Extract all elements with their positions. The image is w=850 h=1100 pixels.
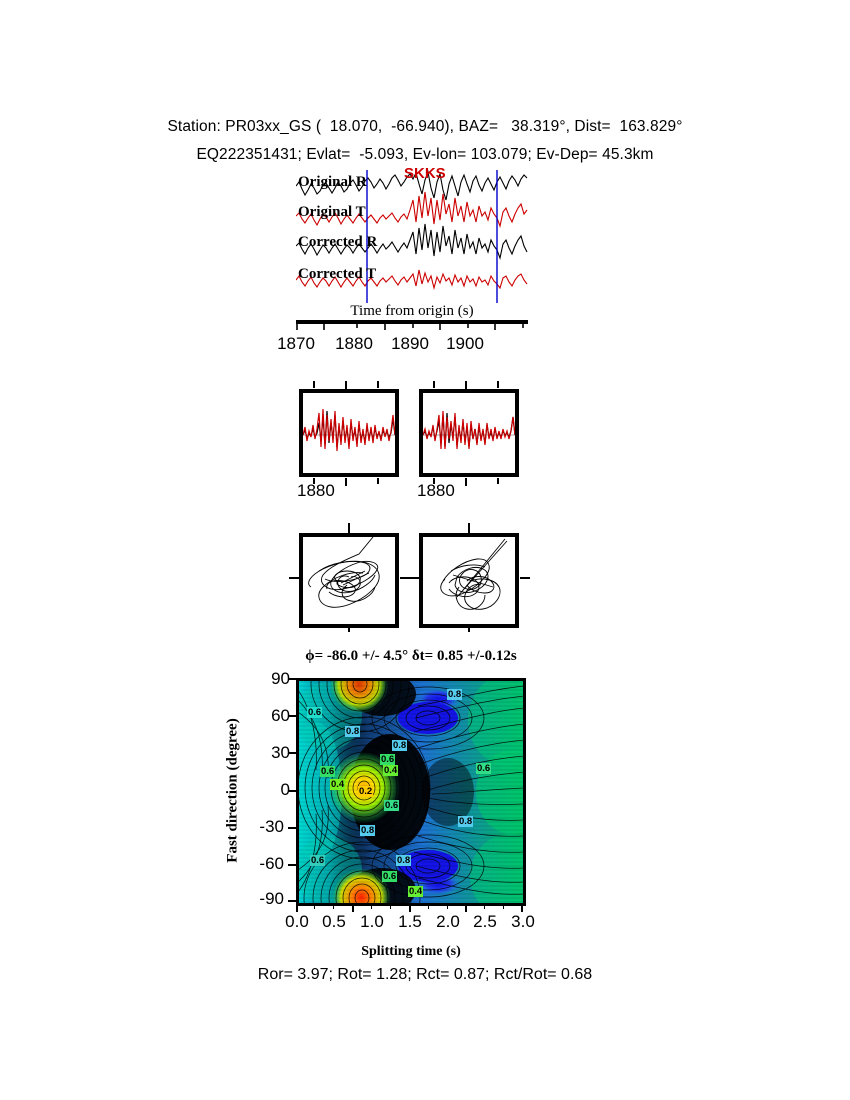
wbox-left-bot-tick-2: [345, 478, 347, 486]
ytick-0: 0: [242, 780, 290, 800]
xtickmark-minor-1: [314, 904, 315, 909]
window-waveforms-left: [303, 393, 395, 473]
ytickmark-60: [288, 715, 296, 717]
phase-label-skks: SKKS: [404, 165, 446, 182]
ytick-neg90: -90: [236, 889, 284, 909]
particle-motion-curve-left: [303, 537, 395, 624]
particle-motion-curve-right: [423, 537, 515, 624]
ytickmark-30: [288, 752, 296, 754]
wbox-left-bot-tick-3: [377, 478, 379, 484]
contour-label-4: 0.6: [380, 754, 395, 765]
xtickmark-minor-8: [503, 904, 504, 909]
ytickmark-neg90: [288, 900, 296, 902]
wbox-left-top-tick-3: [377, 381, 379, 388]
xtick-15: 1.5: [389, 912, 431, 932]
contour-label-13: 0.6: [310, 855, 325, 866]
contour-label-8: 0.2: [358, 786, 373, 797]
window-waveforms-right: [423, 393, 515, 473]
event-info-line: EQ222351431; Evlat= -5.093, Ev-lon= 103.…: [0, 146, 850, 164]
contour-label-15: 0.6: [382, 871, 397, 882]
contour-label-3: 0.8: [392, 740, 407, 751]
contour-label-11: 0.8: [360, 825, 375, 836]
trace-label-original-t: Original T: [298, 204, 366, 221]
ytickmark-0: [288, 790, 296, 792]
quality-metrics-footer: Ror= 3.97; Rot= 1.28; Rct= 0.87; Rct/Rot…: [0, 966, 850, 984]
pbox-right-top-tick: [468, 523, 470, 533]
ytick-60: 60: [242, 706, 290, 726]
ytick-30: 30: [242, 743, 290, 763]
xtickmark-10: [409, 904, 411, 912]
pbox-right-left-tick: [409, 577, 419, 579]
contour-label-14: 0.8: [396, 855, 411, 866]
contour-title: ϕ= -86.0 +/- 4.5° δt= 0.85 +/-0.12s: [226, 648, 596, 665]
wbox-left-bot-tick-1: [313, 478, 315, 484]
contour-x-axis-label: Splitting time (s): [296, 944, 526, 960]
ytick-90: 90: [242, 669, 290, 689]
wbox-right-top-tick-1: [433, 381, 435, 388]
xtick-00: 0.0: [276, 912, 318, 932]
window-right-tick-label: 1880: [417, 481, 507, 501]
contour-label-16: 0.4: [408, 886, 423, 897]
contour-label-9: 0.6: [476, 763, 491, 774]
contour-label-10: 0.6: [384, 800, 399, 811]
pbox-left-left-tick: [289, 577, 299, 579]
xtick-30: 3.0: [502, 912, 544, 932]
pbox-right-right-tick: [520, 577, 530, 579]
time-axis: [296, 318, 528, 332]
xtickmark-minor-7: [484, 904, 485, 909]
seismogram-panel: Original R Original T Corrected R Correc…: [296, 170, 528, 305]
wbox-right-bot-tick-3: [497, 478, 499, 484]
time-tick-labels: 1870 1880 1890 1900: [266, 334, 558, 356]
time-tick-1880: 1880: [324, 334, 384, 354]
contour-surface: [298, 680, 524, 904]
wbox-right-top-tick-3: [497, 381, 499, 388]
splitting-analysis-figure: Station: PR03xx_GS ( 18.070, -66.940), B…: [0, 0, 850, 1100]
ytickmark-neg30: [288, 827, 296, 829]
xtickmark-minor-2: [333, 904, 334, 909]
window-left-tick-label: 1880: [297, 481, 387, 501]
contour-label-1: 0.8: [345, 726, 360, 737]
contour-label-7: 0.4: [330, 779, 345, 790]
station-info-line: Station: PR03xx_GS ( 18.070, -66.940), B…: [0, 118, 850, 136]
time-tick-1870: 1870: [266, 334, 326, 354]
time-tick-1890: 1890: [380, 334, 440, 354]
particle-motion-right: [419, 533, 519, 628]
xtickmark-minor-3: [371, 904, 372, 909]
pbox-left-top-tick: [348, 523, 350, 533]
xtick-05: 0.5: [313, 912, 355, 932]
splitting-energy-contour-plot: 0.6 0.8 0.8 0.8 0.6 0.4 0.6 0.4 0.2 0.6 …: [296, 678, 526, 906]
contour-label-2: 0.8: [447, 689, 462, 700]
xtickmark-30: [521, 904, 523, 912]
contour-label-12: 0.8: [458, 816, 473, 827]
xtick-25: 2.5: [464, 912, 506, 932]
ytickmark-neg60: [288, 864, 296, 866]
particle-motion-left: [299, 533, 399, 628]
xtickmark-15: [465, 904, 467, 912]
window-panel-left: [299, 389, 399, 477]
xtickmark-minor-5: [428, 904, 429, 909]
trace-label-corrected-t: Corrected T: [298, 266, 376, 283]
trace-label-original-r: Original R: [298, 174, 367, 191]
trace-label-corrected-r: Corrected R: [298, 234, 377, 251]
ytick-neg60: -60: [236, 854, 284, 874]
contour-label-0: 0.6: [307, 707, 322, 718]
xtickmark-minor-4: [390, 904, 391, 909]
xtickmark-minor-6: [447, 904, 448, 909]
wbox-left-top-tick-1: [313, 381, 315, 388]
wbox-right-bot-tick-1: [433, 478, 435, 484]
window-panel-right: [419, 389, 519, 477]
xtickmark-0: [296, 904, 298, 912]
wbox-right-bot-tick-2: [465, 478, 467, 486]
contour-label-5: 0.4: [383, 765, 398, 776]
ytick-neg30: -30: [236, 817, 284, 837]
time-tick-1900: 1900: [435, 334, 495, 354]
contour-label-6: 0.6: [320, 766, 335, 777]
xtick-10: 1.0: [351, 912, 393, 932]
ytickmark-90: [288, 678, 296, 680]
xtick-20: 2.0: [427, 912, 469, 932]
xtickmark-05: [352, 904, 354, 912]
